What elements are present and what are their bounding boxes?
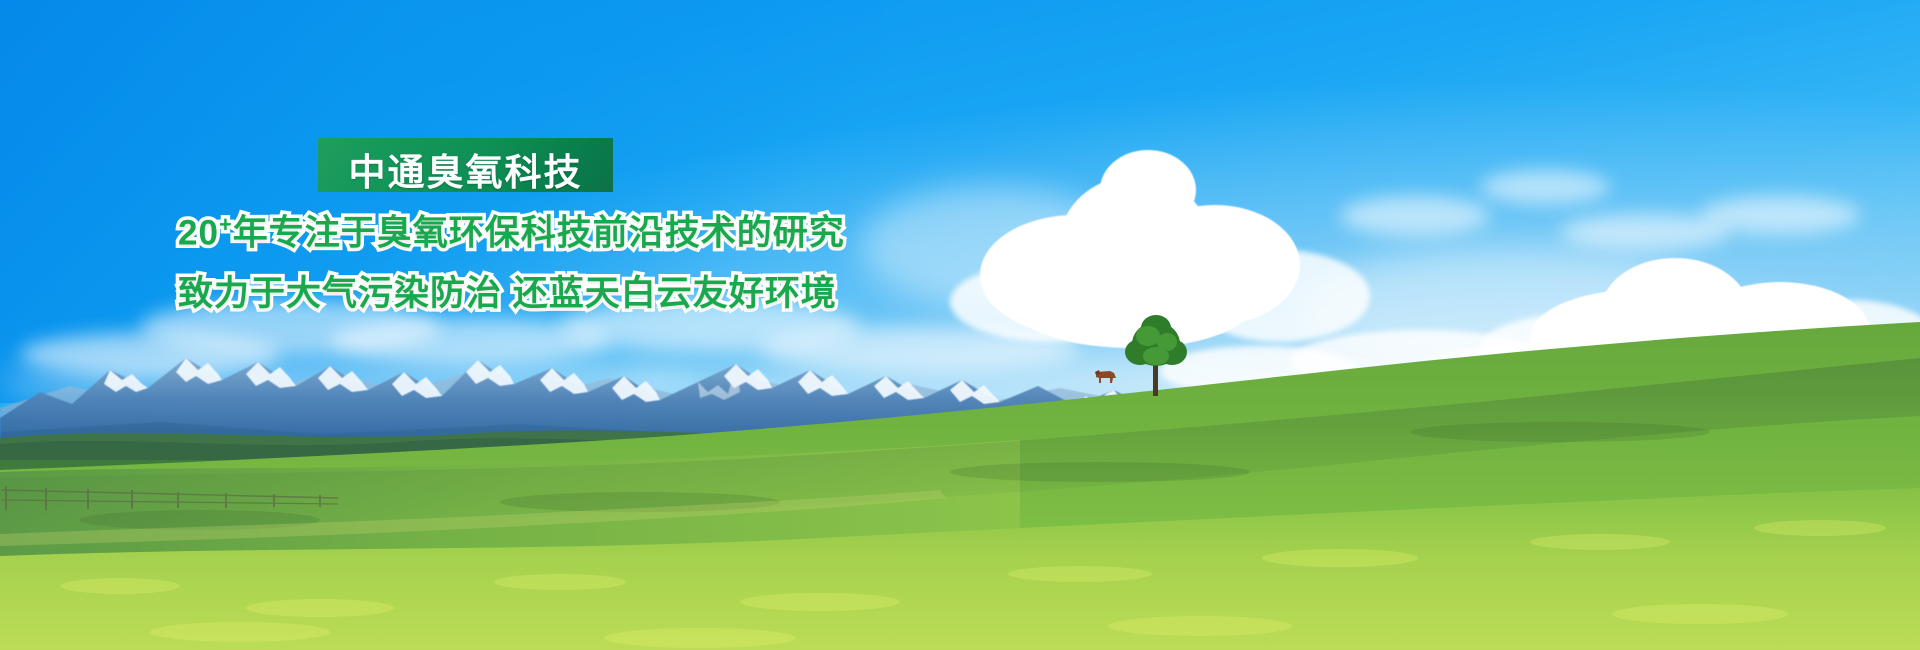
tagline-line-1: 20+年专注于臭氧环保科技前沿技术的研究: [178, 214, 845, 251]
tagline-2-rest: 致力于大气污染防治 还蓝天白云友好环境: [178, 274, 837, 313]
banner-copy: 中通臭氧科技 20+年专注于臭氧环保科技前沿技术的研究 致力于大气污染防治 还蓝…: [0, 0, 1920, 650]
tagline-1-prefix: 20: [178, 214, 219, 253]
tagline-1-rest: 年专注于臭氧环保科技前沿技术的研究: [233, 214, 845, 253]
tagline-line-2: 致力于大气污染防治 还蓝天白云友好环境: [178, 276, 837, 311]
tagline-1-superscript: +: [219, 212, 233, 237]
brand-title-badge: 中通臭氧科技: [318, 138, 613, 192]
hero-banner: 中通臭氧科技 20+年专注于臭氧环保科技前沿技术的研究 致力于大气污染防治 还蓝…: [0, 0, 1920, 650]
brand-title-text: 中通臭氧科技: [349, 154, 583, 191]
